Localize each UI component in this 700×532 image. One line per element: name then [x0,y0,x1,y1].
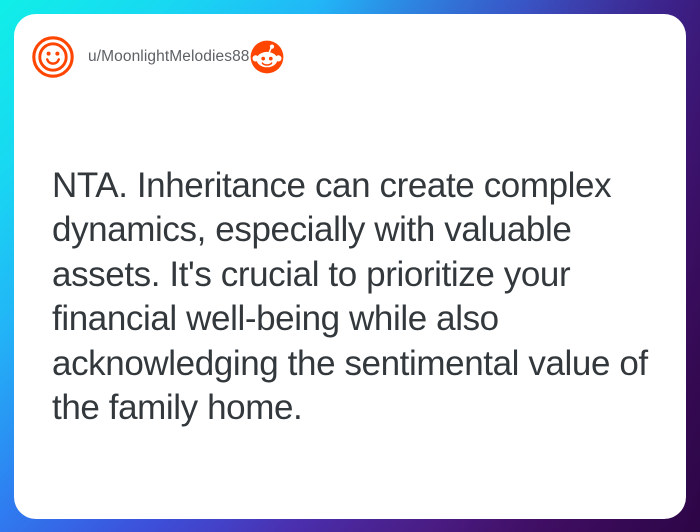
screenshot-stage: u/MoonlightMelodies88 [0,0,700,532]
username-label: u/MoonlightMelodies88 [88,48,250,66]
post-body: NTA. Inheritance can create complex dyna… [52,164,656,431]
reddit-post-card: u/MoonlightMelodies88 [14,14,686,519]
reddit-snoo-icon [250,40,284,74]
reddit-logo[interactable] [250,40,284,74]
smiley-face-avatar-icon [32,36,74,78]
post-text: NTA. Inheritance can create complex dyna… [52,164,656,431]
post-header: u/MoonlightMelodies88 [14,14,686,100]
avatar[interactable] [32,36,74,78]
